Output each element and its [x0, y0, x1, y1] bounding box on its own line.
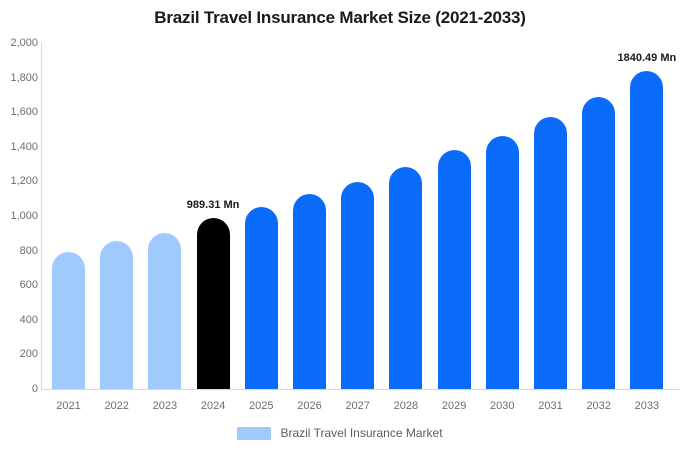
legend-swatch-icon	[237, 427, 271, 440]
bar-2024[interactable]	[197, 218, 230, 389]
y-axis-tick-label: 600	[2, 279, 38, 291]
x-axis-tick-label: 2033	[617, 400, 677, 412]
legend-item[interactable]: Brazil Travel Insurance Market	[237, 426, 442, 440]
y-axis-tick-label: 800	[2, 245, 38, 257]
y-axis-tick-label: 2,000	[2, 37, 38, 49]
bar-2028[interactable]	[389, 167, 422, 389]
y-axis-tick-labels: 02004006008001,0001,2001,4001,6001,8002,…	[0, 0, 38, 450]
chart-title: Brazil Travel Insurance Market Size (202…	[0, 8, 680, 28]
y-axis-tick-label: 200	[2, 348, 38, 360]
bar-2025[interactable]	[245, 207, 278, 389]
chart-legend: Brazil Travel Insurance Market	[0, 426, 680, 440]
bar-2032[interactable]	[582, 97, 615, 389]
y-axis-tick-label: 0	[2, 383, 38, 395]
y-axis-tick-label: 1,400	[2, 141, 38, 153]
bar-2029[interactable]	[438, 150, 471, 389]
y-axis-tick-label: 1,800	[2, 72, 38, 84]
bar-2026[interactable]	[293, 194, 326, 389]
bar-2023[interactable]	[148, 233, 181, 389]
bar-chart: Brazil Travel Insurance Market Size (202…	[0, 0, 680, 450]
y-axis-tick-label: 400	[2, 314, 38, 326]
y-axis-tick-label: 1,200	[2, 175, 38, 187]
y-axis-tick-label: 1,600	[2, 106, 38, 118]
bar-2021[interactable]	[52, 252, 85, 389]
y-axis-tick-label: 1,000	[2, 210, 38, 222]
legend-item-label: Brazil Travel Insurance Market	[280, 426, 442, 440]
bar-2030[interactable]	[486, 136, 519, 389]
bar-value-label-2033: 1840.49 Mn	[592, 52, 680, 64]
x-axis-line	[41, 389, 680, 390]
bar-2033[interactable]	[630, 71, 663, 389]
bar-2031[interactable]	[534, 117, 567, 389]
bar-2027[interactable]	[341, 182, 374, 389]
bar-2022[interactable]	[100, 241, 133, 389]
